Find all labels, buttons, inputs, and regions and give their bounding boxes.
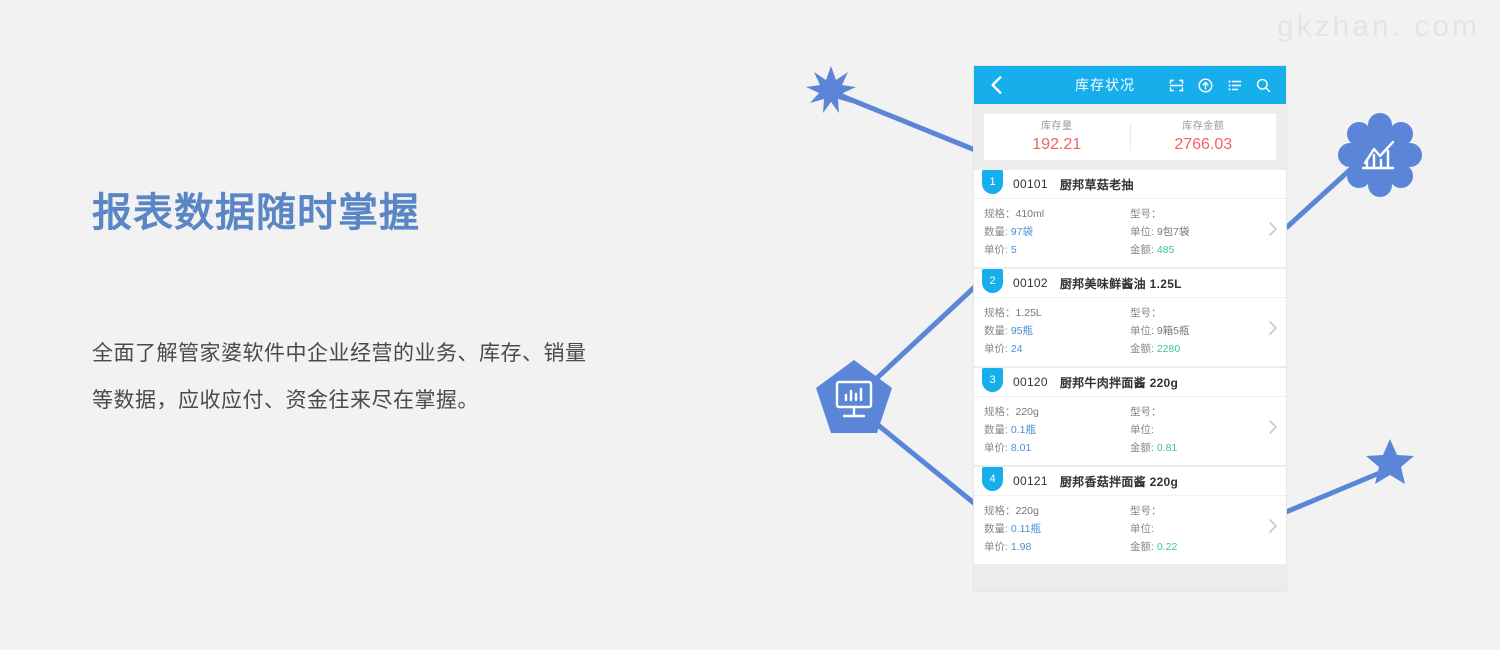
upload-circle-icon[interactable]: [1197, 77, 1214, 94]
item-details: 规格：410ml数量: 97袋单价: 5型号：单位: 9包7袋金额: 485: [974, 199, 1286, 259]
amount-value: 2280: [1157, 343, 1180, 355]
qty-value: 95瓶: [1011, 325, 1033, 337]
amount-label: 金额:: [1130, 244, 1154, 256]
monitor-chart-icon: [837, 382, 871, 416]
connector-line-top: [832, 92, 980, 152]
item-name: 厨邦牛肉拌面酱 220g: [1060, 374, 1178, 391]
item-amount-row: 金额: 0.22: [1130, 538, 1276, 556]
watermark: gkzhan. com: [1277, 10, 1480, 44]
item-spec-row: 规格：1.25L: [984, 304, 1130, 322]
qty-label: 数量:: [984, 226, 1008, 238]
item-qty-row: 数量: 97袋: [984, 223, 1130, 241]
stat-stock-amount: 库存金额 2766.03: [1131, 120, 1277, 155]
poster-stage: gkzhan. com 报表数据随时掌握 全面了解管家婆软件中企业经营的业务、库…: [0, 0, 1500, 650]
item-code: 00120: [1013, 375, 1048, 389]
item-spec-row: 规格：220g: [984, 502, 1130, 520]
amount-value: 0.22: [1157, 541, 1177, 553]
unit-label: 单位:: [1130, 523, 1154, 535]
item-price-row: 单价: 5: [984, 241, 1130, 259]
stat-value: 2766.03: [1131, 134, 1277, 155]
price-value: 8.01: [1011, 442, 1031, 454]
inventory-list: 100101厨邦草菇老抽规格：410ml数量: 97袋单价: 5型号：单位: 9…: [974, 170, 1286, 564]
chevron-left-icon: [986, 74, 1008, 96]
body-paragraph: 全面了解管家婆软件中企业经营的业务、库存、销量等数据，应收应付、资金往来尽在掌握…: [92, 330, 592, 424]
unit-label: 单位:: [1130, 325, 1154, 337]
inventory-item[interactable]: 200102厨邦美味鲜酱油 1.25L规格：1.25L数量: 95瓶单价: 24…: [974, 269, 1286, 366]
item-spec-row: 规格：220g: [984, 403, 1130, 421]
pentagon-monitor-badge: [816, 360, 892, 433]
spec-label: 规格：: [984, 208, 1016, 220]
item-code: 00102: [1013, 276, 1048, 290]
unit-label: 单位:: [1130, 226, 1154, 238]
app-header: 库存状况: [974, 66, 1286, 104]
item-header: 100101厨邦草菇老抽: [974, 170, 1286, 199]
item-header: 200102厨邦美味鲜酱油 1.25L: [974, 269, 1286, 298]
item-col-right: 型号：单位: 9包7袋金额: 485: [1130, 205, 1276, 259]
amount-value: 0.81: [1157, 442, 1177, 454]
spec-label: 规格：: [984, 307, 1016, 319]
item-index-badge: 2: [982, 269, 1003, 293]
list-footer-space: [974, 566, 1286, 591]
item-name: 厨邦香菇拌面酱 220g: [1060, 473, 1178, 490]
item-header: 400121厨邦香菇拌面酱 220g: [974, 467, 1286, 496]
model-label: 型号：: [1130, 505, 1162, 517]
item-qty-row: 数量: 0.1瓶: [984, 421, 1130, 439]
item-name: 厨邦美味鲜酱油 1.25L: [1060, 275, 1182, 292]
spec-label: 规格：: [984, 505, 1016, 517]
header-actions: [1168, 77, 1274, 94]
scan-frame-icon[interactable]: [1168, 77, 1185, 94]
star-badge: [1366, 439, 1414, 484]
connector-line-right-lower: [1286, 472, 1382, 512]
stat-label: 库存量: [984, 120, 1130, 134]
chevron-right-icon[interactable]: [1268, 221, 1278, 237]
chevron-right-icon[interactable]: [1268, 320, 1278, 336]
amount-label: 金额:: [1130, 343, 1154, 355]
amount-label: 金额:: [1130, 442, 1154, 454]
item-unit-row: 单位: 9包7袋: [1130, 223, 1276, 241]
qty-value: 97袋: [1011, 226, 1033, 238]
item-price-row: 单价: 24: [984, 340, 1130, 358]
item-amount-row: 金额: 485: [1130, 241, 1276, 259]
item-col-left: 规格：220g数量: 0.11瓶单价: 1.98: [984, 502, 1130, 556]
bar-chart-trend-icon: [1363, 142, 1393, 168]
price-label: 单价:: [984, 244, 1008, 256]
model-label: 型号：: [1130, 208, 1162, 220]
chevron-right-icon[interactable]: [1268, 419, 1278, 435]
item-model-row: 型号：: [1130, 502, 1276, 520]
item-amount-row: 金额: 2280: [1130, 340, 1276, 358]
stat-label: 库存金额: [1131, 120, 1277, 134]
inventory-item[interactable]: 300120厨邦牛肉拌面酱 220g规格：220g数量: 0.1瓶单价: 8.0…: [974, 368, 1286, 465]
qty-value: 0.11瓶: [1011, 523, 1041, 535]
item-qty-row: 数量: 95瓶: [984, 322, 1130, 340]
qty-label: 数量:: [984, 325, 1008, 337]
item-col-right: 型号：单位: 金额: 0.22: [1130, 502, 1276, 556]
qty-value: 0.1瓶: [1011, 424, 1036, 436]
inventory-item[interactable]: 400121厨邦香菇拌面酱 220g规格：220g数量: 0.11瓶单价: 1.…: [974, 467, 1286, 564]
item-col-right: 型号：单位: 9箱5瓶金额: 2280: [1130, 304, 1276, 358]
chevron-right-icon[interactable]: [1268, 518, 1278, 534]
search-icon[interactable]: [1255, 77, 1272, 94]
scalloped-chart-badge: [1338, 113, 1422, 197]
item-price-row: 单价: 1.98: [984, 538, 1130, 556]
app-title: 库存状况: [1008, 75, 1168, 95]
spec-value: 220g: [1016, 505, 1039, 517]
stat-stock-qty: 库存量 192.21: [984, 120, 1130, 155]
item-qty-row: 数量: 0.11瓶: [984, 520, 1130, 538]
back-button[interactable]: [986, 74, 1008, 96]
amount-label: 金额:: [1130, 541, 1154, 553]
unit-label: 单位:: [1130, 424, 1154, 436]
inventory-item[interactable]: 100101厨邦草菇老抽规格：410ml数量: 97袋单价: 5型号：单位: 9…: [974, 170, 1286, 267]
amount-value: 485: [1157, 244, 1175, 256]
price-value: 24: [1011, 343, 1023, 355]
connector-line-mid-upper: [862, 282, 980, 392]
price-label: 单价:: [984, 541, 1008, 553]
item-col-left: 规格：410ml数量: 97袋单价: 5: [984, 205, 1130, 259]
connector-line-right-upper: [1286, 168, 1352, 228]
sparkle-burst-badge: [806, 66, 856, 113]
item-col-right: 型号：单位: 金额: 0.81: [1130, 403, 1276, 457]
item-model-row: 型号：: [1130, 403, 1276, 421]
unit-value: 9包7袋: [1157, 226, 1190, 238]
qty-label: 数量:: [984, 424, 1008, 436]
item-header: 300120厨邦牛肉拌面酱 220g: [974, 368, 1286, 397]
item-name: 厨邦草菇老抽: [1060, 176, 1134, 193]
price-label: 单价:: [984, 442, 1008, 454]
item-col-left: 规格：220g数量: 0.1瓶单价: 8.01: [984, 403, 1130, 457]
spec-label: 规格：: [984, 406, 1016, 418]
model-label: 型号：: [1130, 406, 1162, 418]
item-unit-row: 单位:: [1130, 421, 1276, 439]
item-details: 规格：1.25L数量: 95瓶单价: 24型号：单位: 9箱5瓶金额: 2280: [974, 298, 1286, 358]
item-details: 规格：220g数量: 0.11瓶单价: 1.98型号：单位: 金额: 0.22: [974, 496, 1286, 556]
qty-label: 数量:: [984, 523, 1008, 535]
price-value: 1.98: [1011, 541, 1031, 553]
price-value: 5: [1011, 244, 1017, 256]
price-label: 单价:: [984, 343, 1008, 355]
item-spec-row: 规格：410ml: [984, 205, 1130, 223]
copy-block: 报表数据随时掌握 全面了解管家婆软件中企业经营的业务、库存、销量等数据，应收应付…: [92, 188, 652, 424]
item-index-badge: 1: [982, 170, 1003, 194]
item-code: 00121: [1013, 474, 1048, 488]
item-unit-row: 单位: 9箱5瓶: [1130, 322, 1276, 340]
stat-value: 192.21: [984, 134, 1130, 155]
item-col-left: 规格：1.25L数量: 95瓶单价: 24: [984, 304, 1130, 358]
item-unit-row: 单位:: [1130, 520, 1276, 538]
spec-value: 410ml: [1016, 208, 1045, 220]
model-label: 型号：: [1130, 307, 1162, 319]
item-model-row: 型号：: [1130, 304, 1276, 322]
list-icon[interactable]: [1226, 77, 1243, 94]
item-price-row: 单价: 8.01: [984, 439, 1130, 457]
summary-card: 库存量 192.21 库存金额 2766.03: [983, 113, 1277, 161]
unit-value: 9箱5瓶: [1157, 325, 1190, 337]
item-code: 00101: [1013, 177, 1048, 191]
item-amount-row: 金额: 0.81: [1130, 439, 1276, 457]
connector-line-mid-lower: [862, 412, 980, 508]
item-details: 规格：220g数量: 0.1瓶单价: 8.01型号：单位: 金额: 0.81: [974, 397, 1286, 457]
spec-value: 220g: [1016, 406, 1039, 418]
spec-value: 1.25L: [1016, 307, 1042, 319]
page-title: 报表数据随时掌握: [92, 188, 652, 238]
item-index-badge: 3: [982, 368, 1003, 392]
phone-mockup: 库存状况: [974, 66, 1286, 591]
item-index-badge: 4: [982, 467, 1003, 491]
item-model-row: 型号：: [1130, 205, 1276, 223]
